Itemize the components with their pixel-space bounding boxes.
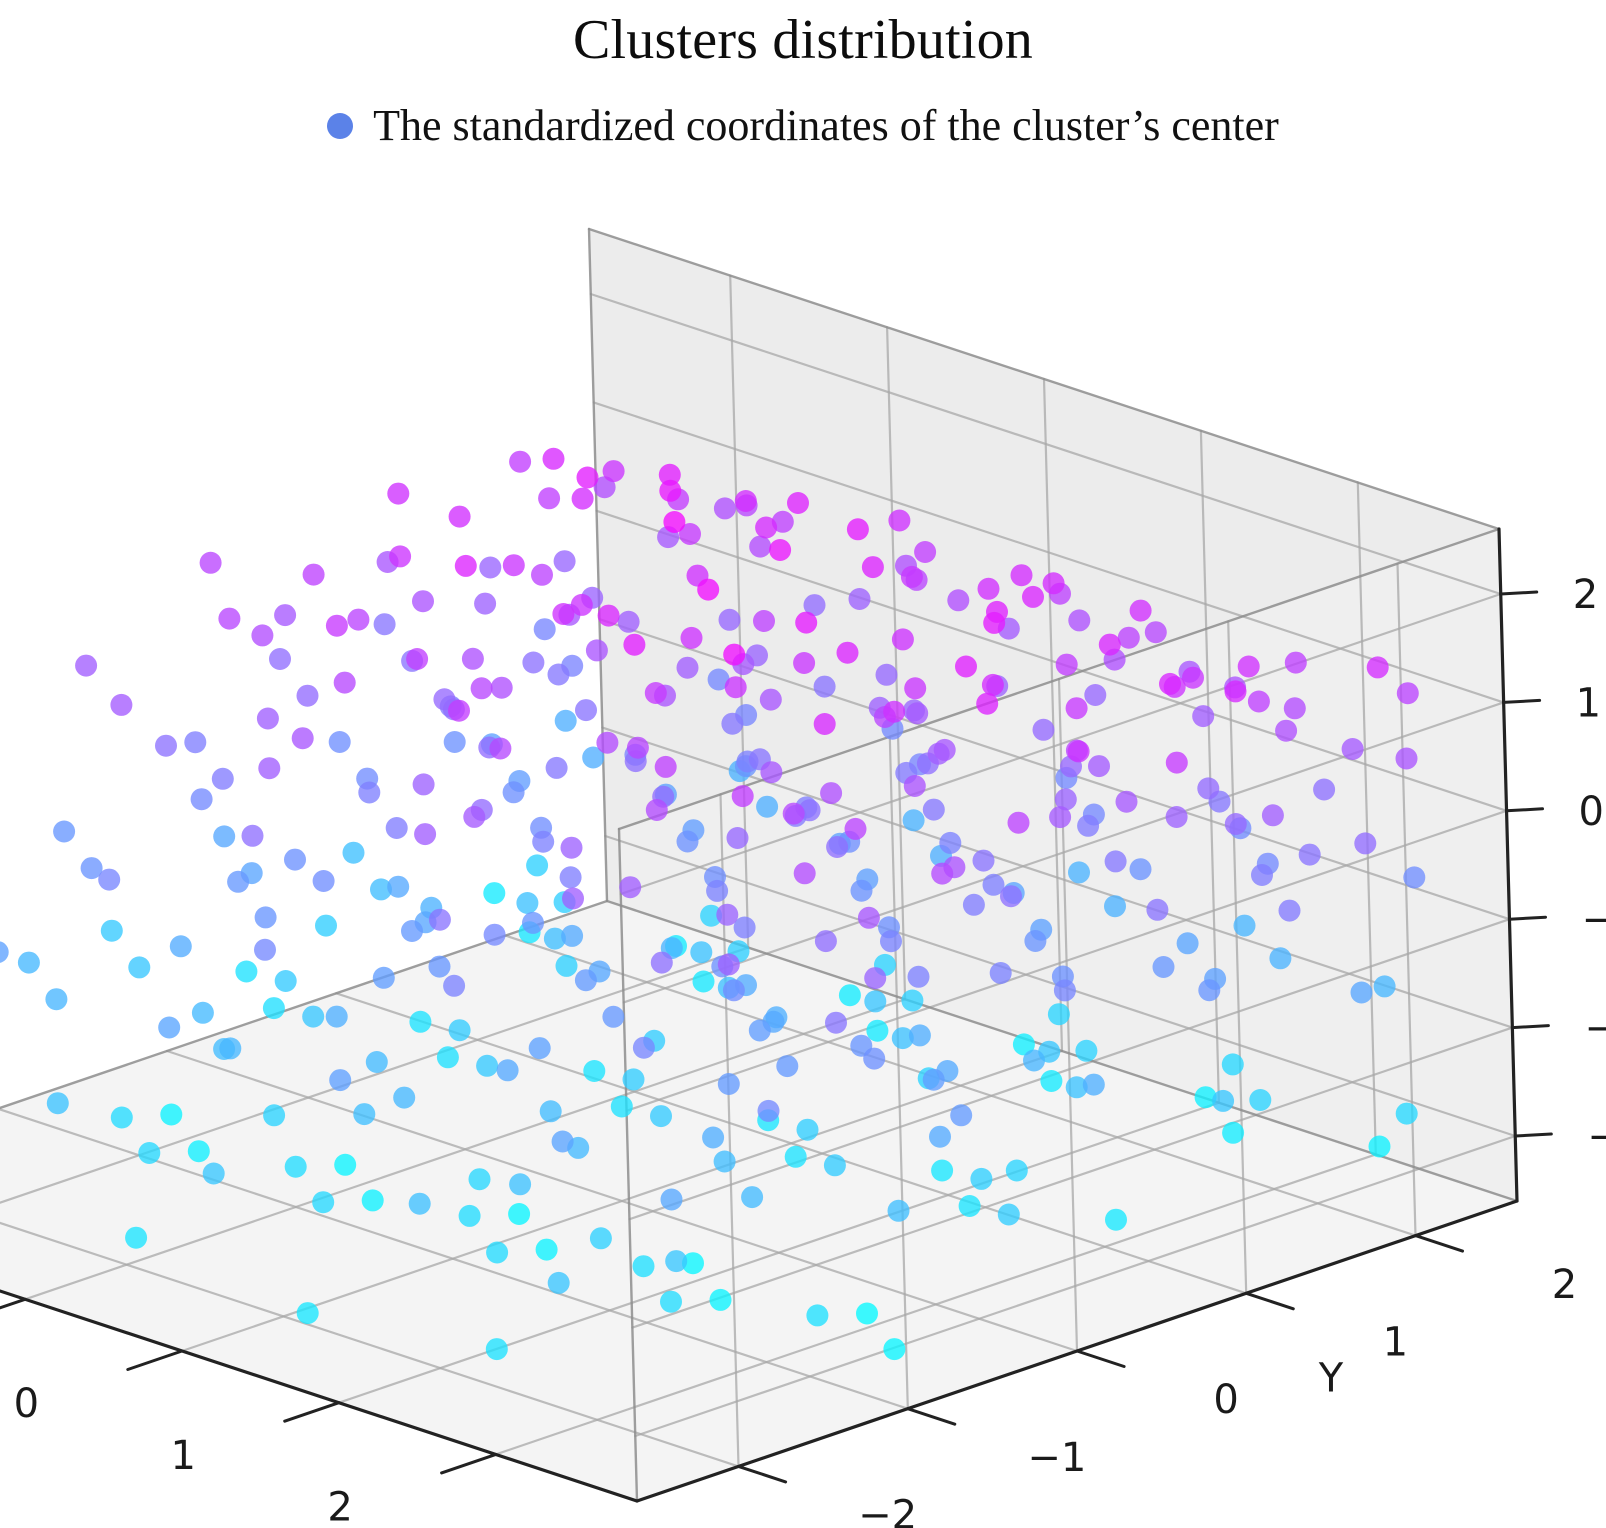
scatter-point[interactable] xyxy=(923,799,945,821)
scatter-point[interactable] xyxy=(623,634,645,656)
scatter-point[interactable] xyxy=(645,682,667,704)
scatter-point[interactable] xyxy=(577,467,599,489)
scatter-point[interactable] xyxy=(489,738,511,760)
scatter-point[interactable] xyxy=(406,648,428,670)
scatter-point[interactable] xyxy=(660,1291,682,1313)
scatter-point[interactable] xyxy=(931,1160,953,1182)
scatter-point[interactable] xyxy=(1054,979,1076,1001)
scatter-point[interactable] xyxy=(706,880,728,902)
scatter-point[interactable] xyxy=(1374,975,1396,997)
scatter-point[interactable] xyxy=(1197,777,1219,799)
scatter-point[interactable] xyxy=(192,1002,214,1024)
scatter-point[interactable] xyxy=(497,1059,519,1081)
scatter-point[interactable] xyxy=(769,539,791,561)
scatter-point[interactable] xyxy=(476,1055,498,1077)
scatter-point[interactable] xyxy=(1249,1089,1271,1111)
scatter-point[interactable] xyxy=(650,1105,672,1127)
scatter-point[interactable] xyxy=(864,967,886,989)
scatter-point[interactable] xyxy=(697,579,719,601)
scatter-point[interactable] xyxy=(275,970,297,992)
scatter-point[interactable] xyxy=(888,510,910,532)
scatter-point[interactable] xyxy=(329,1069,351,1091)
scatter-point[interactable] xyxy=(1225,813,1247,835)
scatter-point[interactable] xyxy=(661,1189,683,1211)
scatter-point[interactable] xyxy=(749,1020,771,1042)
scatter-point[interactable] xyxy=(326,615,348,637)
scatter-point[interactable] xyxy=(75,655,97,677)
scatter-point[interactable] xyxy=(516,892,538,914)
scatter-point[interactable] xyxy=(1354,832,1376,854)
scatter-point[interactable] xyxy=(538,487,560,509)
scatter-point[interactable] xyxy=(785,1146,807,1168)
scatter-3d-canvas[interactable]: −2−1012X−2−1012Y210−1−2−3Z xyxy=(0,0,1606,1528)
scatter-point[interactable] xyxy=(983,612,1005,634)
scatter-point[interactable] xyxy=(702,1127,724,1149)
scatter-point[interactable] xyxy=(970,1168,992,1190)
scatter-point[interactable] xyxy=(128,956,150,978)
scatter-point[interactable] xyxy=(257,708,279,730)
scatter-point[interactable] xyxy=(901,566,923,588)
scatter-point[interactable] xyxy=(443,975,465,997)
scatter-point[interactable] xyxy=(1192,705,1214,727)
scatter-point[interactable] xyxy=(929,1126,951,1148)
scatter-point[interactable] xyxy=(856,1303,878,1325)
scatter-point[interactable] xyxy=(255,906,277,928)
scatter-point[interactable] xyxy=(471,677,493,699)
scatter-point[interactable] xyxy=(1043,572,1065,594)
scatter-point[interactable] xyxy=(909,1024,931,1046)
scatter-point[interactable] xyxy=(663,511,685,533)
scatter-point[interactable] xyxy=(561,837,583,859)
scatter-point[interactable] xyxy=(1130,600,1152,622)
scatter-point[interactable] xyxy=(598,605,620,627)
scatter-point[interactable] xyxy=(552,1131,574,1153)
scatter-point[interactable] xyxy=(1397,682,1419,704)
scatter-point[interactable] xyxy=(651,952,673,974)
scatter-point[interactable] xyxy=(334,672,356,694)
scatter-point[interactable] xyxy=(862,556,884,578)
scatter-point[interactable] xyxy=(866,1020,888,1042)
scatter-point[interactable] xyxy=(474,593,496,615)
scatter-point[interactable] xyxy=(849,588,871,610)
scatter-point[interactable] xyxy=(596,732,618,754)
scatter-point[interactable] xyxy=(200,552,222,574)
scatter-point[interactable] xyxy=(312,1191,334,1213)
scatter-point[interactable] xyxy=(814,676,836,698)
scatter-point[interactable] xyxy=(353,1103,375,1125)
scatter-point[interactable] xyxy=(725,676,747,698)
scatter-point[interactable] xyxy=(990,962,1012,984)
scatter-point[interactable] xyxy=(806,1304,828,1326)
scatter-point[interactable] xyxy=(269,648,291,670)
scatter-point[interactable] xyxy=(155,735,177,757)
scatter-point[interactable] xyxy=(251,624,273,646)
scatter-point[interactable] xyxy=(448,700,470,722)
scatter-point[interactable] xyxy=(1068,861,1090,883)
scatter-point[interactable] xyxy=(285,1156,307,1178)
scatter-point[interactable] xyxy=(560,866,582,888)
scatter-point[interactable] xyxy=(1225,680,1247,702)
scatter-point[interactable] xyxy=(1084,684,1106,706)
scatter-point[interactable] xyxy=(1083,1074,1105,1096)
scatter-point[interactable] xyxy=(429,956,451,978)
scatter-point[interactable] xyxy=(297,685,319,707)
scatter-point[interactable] xyxy=(263,1104,285,1126)
scatter-point[interactable] xyxy=(315,915,337,937)
scatter-point[interactable] xyxy=(274,604,296,626)
scatter-point[interactable] xyxy=(858,907,880,929)
scatter-point[interactable] xyxy=(47,1092,69,1114)
scatter-point[interactable] xyxy=(914,541,936,563)
scatter-point[interactable] xyxy=(393,1087,415,1109)
scatter-point[interactable] xyxy=(444,731,466,753)
scatter-point[interactable] xyxy=(825,1012,847,1034)
scatter-point[interactable] xyxy=(235,961,257,983)
scatter-point[interactable] xyxy=(719,609,741,631)
scatter-point[interactable] xyxy=(681,627,703,649)
scatter-point[interactable] xyxy=(1105,1209,1127,1231)
scatter-point[interactable] xyxy=(429,909,451,931)
scatter-point[interactable] xyxy=(329,731,351,753)
scatter-point[interactable] xyxy=(536,1239,558,1261)
scatter-point[interactable] xyxy=(633,1255,655,1277)
scatter-point[interactable] xyxy=(548,1272,570,1294)
scatter-point[interactable] xyxy=(716,904,738,926)
scatter-point[interactable] xyxy=(191,788,213,810)
scatter-point[interactable] xyxy=(908,966,930,988)
scatter-point[interactable] xyxy=(1313,779,1335,801)
scatter-point[interactable] xyxy=(820,782,842,804)
scatter-point[interactable] xyxy=(532,831,554,853)
scatter-point[interactable] xyxy=(1068,740,1090,762)
scatter-point[interactable] xyxy=(18,952,40,974)
scatter-point[interactable] xyxy=(556,955,578,977)
scatter-point[interactable] xyxy=(531,564,553,586)
scatter-point[interactable] xyxy=(756,796,778,818)
scatter-point[interactable] xyxy=(486,1338,508,1360)
scatter-point[interactable] xyxy=(483,882,505,904)
scatter-point[interactable] xyxy=(1068,609,1090,631)
scatter-point[interactable] xyxy=(1342,738,1364,760)
scatter-point[interactable] xyxy=(292,727,314,749)
scatter-point[interactable] xyxy=(864,990,886,1012)
scatter-point[interactable] xyxy=(603,460,625,482)
scatter-point[interactable] xyxy=(358,782,380,804)
scatter-point[interactable] xyxy=(389,545,411,567)
scatter-point[interactable] xyxy=(1234,915,1256,937)
scatter-point[interactable] xyxy=(529,1037,551,1059)
scatter-point[interactable] xyxy=(693,971,715,993)
scatter-point[interactable] xyxy=(1145,621,1167,643)
scatter-point[interactable] xyxy=(561,925,583,947)
scatter-point[interactable] xyxy=(1099,634,1121,656)
scatter-point[interactable] xyxy=(1212,1090,1234,1112)
scatter-point[interactable] xyxy=(111,1107,133,1129)
scatter-point[interactable] xyxy=(362,1189,384,1211)
scatter-point[interactable] xyxy=(1048,1003,1070,1025)
scatter-point[interactable] xyxy=(386,817,408,839)
scatter-point[interactable] xyxy=(1040,1070,1062,1092)
scatter-point[interactable] xyxy=(242,825,264,847)
scatter-point[interactable] xyxy=(1222,1122,1244,1144)
scatter-point[interactable] xyxy=(414,823,436,845)
scatter-point[interactable] xyxy=(401,920,423,942)
scatter-point[interactable] xyxy=(326,1006,348,1028)
scatter-point[interactable] xyxy=(1166,752,1188,774)
scatter-point[interactable] xyxy=(158,1017,180,1039)
scatter-point[interactable] xyxy=(976,693,998,715)
scatter-point[interactable] xyxy=(888,1200,910,1222)
scatter-point[interactable] xyxy=(1251,864,1273,886)
scatter-point[interactable] xyxy=(723,979,745,1001)
scatter-point[interactable] xyxy=(883,1338,905,1360)
scatter-point[interactable] xyxy=(794,862,816,884)
scatter-point[interactable] xyxy=(665,1250,687,1272)
scatter-point[interactable] xyxy=(491,677,513,699)
scatter-point[interactable] xyxy=(0,941,9,963)
scatter-point[interactable] xyxy=(1105,850,1127,872)
scatter-point[interactable] xyxy=(1299,844,1321,866)
scatter-point[interactable] xyxy=(931,863,953,885)
scatter-point[interactable] xyxy=(575,699,597,721)
scatter-point[interactable] xyxy=(783,803,805,825)
scatter-point[interactable] xyxy=(906,702,928,724)
scatter-point[interactable] xyxy=(633,1037,655,1059)
scatter-point[interactable] xyxy=(409,1011,431,1033)
scatter-point[interactable] xyxy=(1116,791,1138,813)
scatter-point[interactable] xyxy=(904,775,926,797)
scatter-point[interactable] xyxy=(901,990,923,1012)
scatter-point[interactable] xyxy=(714,1151,736,1173)
scatter-point[interactable] xyxy=(904,677,926,699)
scatter-point[interactable] xyxy=(1166,806,1188,828)
scatter-point[interactable] xyxy=(53,821,75,843)
scatter-point[interactable] xyxy=(718,953,740,975)
scatter-point[interactable] xyxy=(303,564,325,586)
scatter-point[interactable] xyxy=(973,850,995,872)
scatter-point[interactable] xyxy=(627,737,649,759)
scatter-point[interactable] xyxy=(611,1096,633,1118)
scatter-point[interactable] xyxy=(203,1163,225,1185)
scatter-point[interactable] xyxy=(412,590,434,612)
scatter-point[interactable] xyxy=(1396,748,1418,770)
scatter-point[interactable] xyxy=(623,1068,645,1090)
scatter-point[interactable] xyxy=(586,639,608,661)
scatter-point[interactable] xyxy=(741,1186,763,1208)
scatter-point[interactable] xyxy=(459,1205,481,1227)
scatter-point[interactable] xyxy=(793,652,815,674)
scatter-point[interactable] xyxy=(659,480,681,502)
scatter-point[interactable] xyxy=(892,628,914,650)
scatter-point[interactable] xyxy=(212,768,234,790)
scatter-point[interactable] xyxy=(760,689,782,711)
scatter-point[interactable] xyxy=(334,1154,356,1176)
scatter-point[interactable] xyxy=(723,644,745,666)
scatter-point[interactable] xyxy=(258,757,280,779)
scatter-point[interactable] xyxy=(619,876,641,898)
scatter-point[interactable] xyxy=(732,785,754,807)
scatter-point[interactable] xyxy=(839,984,861,1006)
scatter-point[interactable] xyxy=(1153,956,1175,978)
scatter-point[interactable] xyxy=(509,1173,531,1195)
scatter-point[interactable] xyxy=(374,613,396,635)
scatter-point[interactable] xyxy=(302,1006,324,1028)
scatter-point[interactable] xyxy=(509,451,531,473)
scatter-point[interactable] xyxy=(749,536,771,558)
scatter-point[interactable] xyxy=(462,648,484,670)
scatter-point[interactable] xyxy=(1049,806,1071,828)
scatter-point[interactable] xyxy=(718,1073,740,1095)
scatter-point[interactable] xyxy=(1056,654,1078,676)
scatter-point[interactable] xyxy=(263,997,285,1019)
scatter-point[interactable] xyxy=(1000,885,1022,907)
scatter-point[interactable] xyxy=(343,842,365,864)
scatter-point[interactable] xyxy=(503,554,525,576)
scatter-point[interactable] xyxy=(188,1140,210,1162)
scatter-point[interactable] xyxy=(1024,930,1046,952)
scatter-point[interactable] xyxy=(955,656,977,678)
scatter-point[interactable] xyxy=(959,1195,981,1217)
scatter-point[interactable] xyxy=(815,930,837,952)
scatter-point[interactable] xyxy=(978,578,1000,600)
scatter-point[interactable] xyxy=(552,603,574,625)
scatter-point[interactable] xyxy=(845,818,867,840)
scatter-point[interactable] xyxy=(313,870,335,892)
scatter-point[interactable] xyxy=(760,761,782,783)
scatter-point[interactable] xyxy=(1146,899,1168,921)
scatter-point[interactable] xyxy=(690,941,712,963)
scatter-point[interactable] xyxy=(455,555,477,577)
scatter-point[interactable] xyxy=(1198,979,1220,1001)
scatter-point[interactable] xyxy=(546,757,568,779)
scatter-point[interactable] xyxy=(655,756,677,778)
scatter-point[interactable] xyxy=(1351,982,1373,1004)
scatter-point[interactable] xyxy=(826,836,848,858)
scatter-point[interactable] xyxy=(554,550,576,572)
scatter-point[interactable] xyxy=(125,1227,147,1249)
scatter-point[interactable] xyxy=(1262,804,1284,826)
scatter-point[interactable] xyxy=(526,854,548,876)
scatter-point[interactable] xyxy=(1104,895,1126,917)
scatter-point[interactable] xyxy=(710,1289,732,1311)
scatter-point[interactable] xyxy=(963,894,985,916)
scatter-point[interactable] xyxy=(484,924,506,946)
scatter-point[interactable] xyxy=(727,827,749,849)
scatter-point[interactable] xyxy=(590,1227,612,1249)
scatter-point[interactable] xyxy=(1033,719,1055,741)
scatter-point[interactable] xyxy=(1011,564,1033,586)
scatter-point[interactable] xyxy=(373,967,395,989)
scatter-point[interactable] xyxy=(1118,627,1140,649)
scatter-point[interactable] xyxy=(463,806,485,828)
scatter-point[interactable] xyxy=(880,930,902,952)
scatter-point[interactable] xyxy=(409,1193,431,1215)
scatter-point[interactable] xyxy=(503,781,525,803)
scatter-point[interactable] xyxy=(218,608,240,630)
scatter-point[interactable] xyxy=(347,609,369,631)
scatter-point[interactable] xyxy=(677,831,699,853)
scatter-point[interactable] xyxy=(1022,586,1044,608)
scatter-point[interactable] xyxy=(1222,1053,1244,1075)
scatter-point[interactable] xyxy=(387,876,409,898)
scatter-point[interactable] xyxy=(776,1055,798,1077)
scatter-point[interactable] xyxy=(562,888,584,910)
scatter-point[interactable] xyxy=(284,849,306,871)
scatter-point[interactable] xyxy=(413,773,435,795)
scatter-point[interactable] xyxy=(1367,656,1389,678)
scatter-point[interactable] xyxy=(934,739,956,761)
scatter-point[interactable] xyxy=(555,710,577,732)
scatter-point[interactable] xyxy=(837,642,859,664)
scatter-point[interactable] xyxy=(540,1100,562,1122)
scatter-point[interactable] xyxy=(387,483,409,505)
scatter-point[interactable] xyxy=(437,1046,459,1068)
scatter-point[interactable] xyxy=(486,1242,508,1264)
scatter-point[interactable] xyxy=(534,618,556,640)
scatter-point[interactable] xyxy=(170,935,192,957)
scatter-point[interactable] xyxy=(947,589,969,611)
scatter-point[interactable] xyxy=(449,506,471,528)
scatter-point[interactable] xyxy=(297,1302,319,1324)
scatter-point[interactable] xyxy=(1403,866,1425,888)
scatter-point[interactable] xyxy=(814,713,836,735)
scatter-point[interactable] xyxy=(522,652,544,674)
scatter-point[interactable] xyxy=(787,492,809,514)
scatter-point[interactable] xyxy=(508,1203,530,1225)
scatter-point[interactable] xyxy=(98,869,120,891)
scatter-point[interactable] xyxy=(1066,697,1088,719)
scatter-point[interactable] xyxy=(1369,1136,1391,1158)
scatter-point[interactable] xyxy=(1177,932,1199,954)
scatter-point[interactable] xyxy=(950,1104,972,1126)
scatter-point[interactable] xyxy=(721,713,743,735)
scatter-point[interactable] xyxy=(548,664,570,686)
scatter-point[interactable] xyxy=(795,612,817,634)
scatter-point[interactable] xyxy=(227,871,249,893)
scatter-point[interactable] xyxy=(797,1119,819,1141)
scatter-point[interactable] xyxy=(138,1142,160,1164)
scatter-point[interactable] xyxy=(160,1104,182,1126)
scatter-point[interactable] xyxy=(366,1051,388,1073)
scatter-point[interactable] xyxy=(735,490,757,512)
scatter-point[interactable] xyxy=(982,674,1004,696)
scatter-point[interactable] xyxy=(1269,947,1291,969)
scatter-point[interactable] xyxy=(45,988,67,1010)
scatter-point[interactable] xyxy=(572,488,594,510)
scatter-point[interactable] xyxy=(522,912,544,934)
scatter-point[interactable] xyxy=(753,610,775,632)
scatter-point[interactable] xyxy=(923,1069,945,1091)
scatter-point[interactable] xyxy=(646,799,668,821)
scatter-point[interactable] xyxy=(219,1037,241,1059)
scatter-point[interactable] xyxy=(1130,858,1152,880)
scatter-point[interactable] xyxy=(1075,1040,1097,1062)
scatter-point[interactable] xyxy=(1275,720,1297,742)
scatter-point[interactable] xyxy=(714,497,736,519)
scatter-point[interactable] xyxy=(1248,691,1270,713)
scatter-point[interactable] xyxy=(1238,656,1260,678)
scatter-point[interactable] xyxy=(1284,697,1306,719)
scatter-point[interactable] xyxy=(1008,812,1030,834)
scatter-point[interactable] xyxy=(213,825,235,847)
plot-area[interactable]: −2−1012X−2−1012Y210−1−2−3Z xyxy=(0,0,1606,1528)
scatter-point[interactable] xyxy=(1396,1103,1418,1125)
scatter-point[interactable] xyxy=(824,1154,846,1176)
scatter-point[interactable] xyxy=(677,657,699,679)
scatter-point[interactable] xyxy=(1279,900,1301,922)
scatter-point[interactable] xyxy=(939,832,961,854)
scatter-point[interactable] xyxy=(602,1006,624,1028)
